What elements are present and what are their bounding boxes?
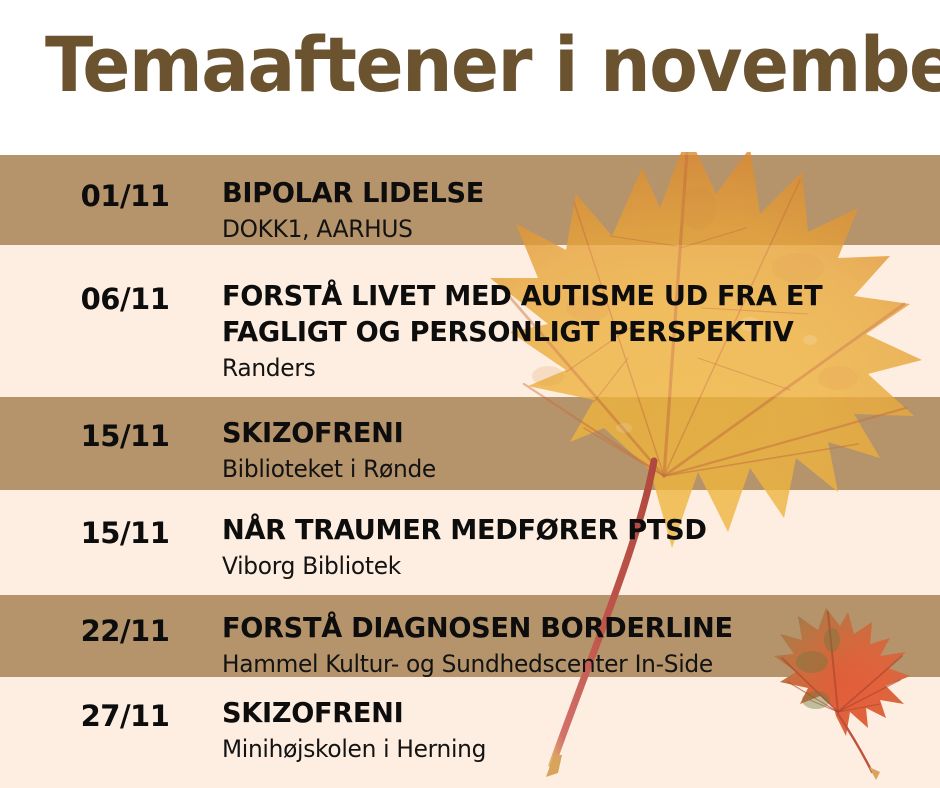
list-item[interactable]: 15/11 NÅR TRAUMER MEDFØRER PTSD Viborg B… bbox=[0, 490, 940, 595]
list-item[interactable]: 06/11 FORSTÅ LIVET MED AUTISME UD FRA ET… bbox=[0, 245, 940, 397]
list-item[interactable]: 27/11 SKIZOFRENI Minihøjskolen i Herning bbox=[0, 677, 940, 788]
title-band: Temaaftener i november bbox=[0, 0, 940, 152]
event-venue: Viborg Bibliotek bbox=[222, 551, 909, 582]
event-title: FORSTÅ DIAGNOSEN BORDERLINE bbox=[222, 610, 909, 646]
list-item[interactable]: 15/11 SKIZOFRENI Biblioteket i Rønde bbox=[0, 397, 940, 490]
event-date: 01/11 bbox=[50, 179, 200, 213]
event-venue: DOKK1, AARHUS bbox=[222, 214, 909, 245]
page-title: Temaaftener i november bbox=[45, 27, 940, 103]
event-details: SKIZOFRENI Biblioteket i Rønde bbox=[222, 415, 930, 485]
event-date: 27/11 bbox=[50, 699, 200, 733]
poster-canvas: Temaaftener i november 01/11 BIPOLAR LID… bbox=[0, 0, 940, 788]
event-title: SKIZOFRENI bbox=[222, 695, 909, 731]
event-title: FORSTÅ LIVET MED AUTISME UD FRA ET bbox=[222, 278, 909, 314]
event-venue: Minihøjskolen i Herning bbox=[222, 734, 909, 765]
event-date: 22/11 bbox=[50, 614, 200, 648]
event-title-line2: FAGLIGT OG PERSONLIGT PERSPEKTIV bbox=[222, 314, 909, 350]
event-venue: Randers bbox=[222, 353, 909, 384]
list-item[interactable]: 22/11 FORSTÅ DIAGNOSEN BORDERLINE Hammel… bbox=[0, 595, 940, 677]
event-details: BIPOLAR LIDELSE DOKK1, AARHUS bbox=[222, 175, 930, 245]
event-venue: Hammel Kultur- og Sundhedscenter In-Side bbox=[222, 649, 909, 680]
event-details: SKIZOFRENI Minihøjskolen i Herning bbox=[222, 695, 930, 765]
event-details: FORSTÅ LIVET MED AUTISME UD FRA ET FAGLI… bbox=[222, 278, 930, 384]
event-title: NÅR TRAUMER MEDFØRER PTSD bbox=[222, 512, 909, 548]
list-item[interactable]: 01/11 BIPOLAR LIDELSE DOKK1, AARHUS bbox=[0, 155, 940, 245]
event-date: 15/11 bbox=[50, 419, 200, 453]
event-details: FORSTÅ DIAGNOSEN BORDERLINE Hammel Kultu… bbox=[222, 610, 930, 680]
event-date: 15/11 bbox=[50, 516, 200, 550]
event-title: SKIZOFRENI bbox=[222, 415, 909, 451]
event-date: 06/11 bbox=[50, 282, 200, 316]
event-details: NÅR TRAUMER MEDFØRER PTSD Viborg Bibliot… bbox=[222, 512, 930, 582]
event-title: BIPOLAR LIDELSE bbox=[222, 175, 909, 211]
event-venue: Biblioteket i Rønde bbox=[222, 454, 909, 485]
